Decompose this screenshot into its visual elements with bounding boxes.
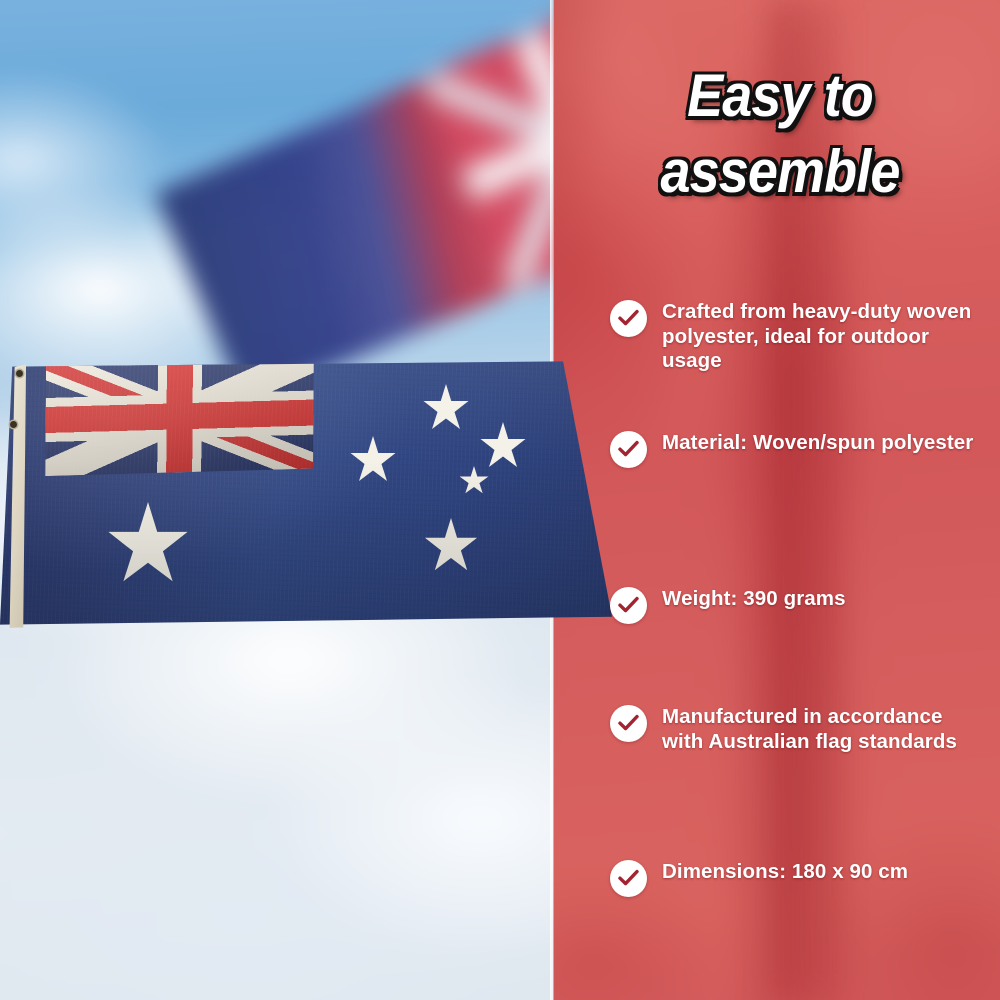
check-circle-icon <box>610 860 647 897</box>
headline: Easy to assemble <box>582 58 978 210</box>
feature-item: Dimensions: 180 x 90 cm <box>610 860 980 897</box>
flag-grommet <box>10 421 17 428</box>
product-feature-image: Easy to assemble Crafted from heavy-duty… <box>0 0 1000 1000</box>
flag-field <box>0 360 612 626</box>
feature-item: Material: Woven/spun polyester <box>610 431 980 468</box>
feature-item: Manufactured in accordance with Australi… <box>610 705 980 754</box>
headline-line-2: assemble <box>582 134 978 210</box>
feature-text: Material: Woven/spun polyester <box>662 431 980 456</box>
feature-item: Weight: 390 grams <box>610 587 980 624</box>
headline-line-1: Easy to <box>582 58 978 134</box>
australian-flag-photo <box>0 360 612 626</box>
feature-text: Weight: 390 grams <box>662 587 980 612</box>
flag-grommet <box>16 370 23 377</box>
feature-text: Manufactured in accordance with Australi… <box>662 705 980 754</box>
flag-shading <box>0 360 612 626</box>
check-circle-icon <box>610 300 647 337</box>
check-circle-icon <box>610 705 647 742</box>
feature-item: Crafted from heavy-duty woven polyester,… <box>610 300 980 374</box>
feature-text: Crafted from heavy-duty woven polyester,… <box>662 300 980 374</box>
check-circle-icon <box>610 587 647 624</box>
check-circle-icon <box>610 431 647 468</box>
feature-text: Dimensions: 180 x 90 cm <box>662 860 980 885</box>
